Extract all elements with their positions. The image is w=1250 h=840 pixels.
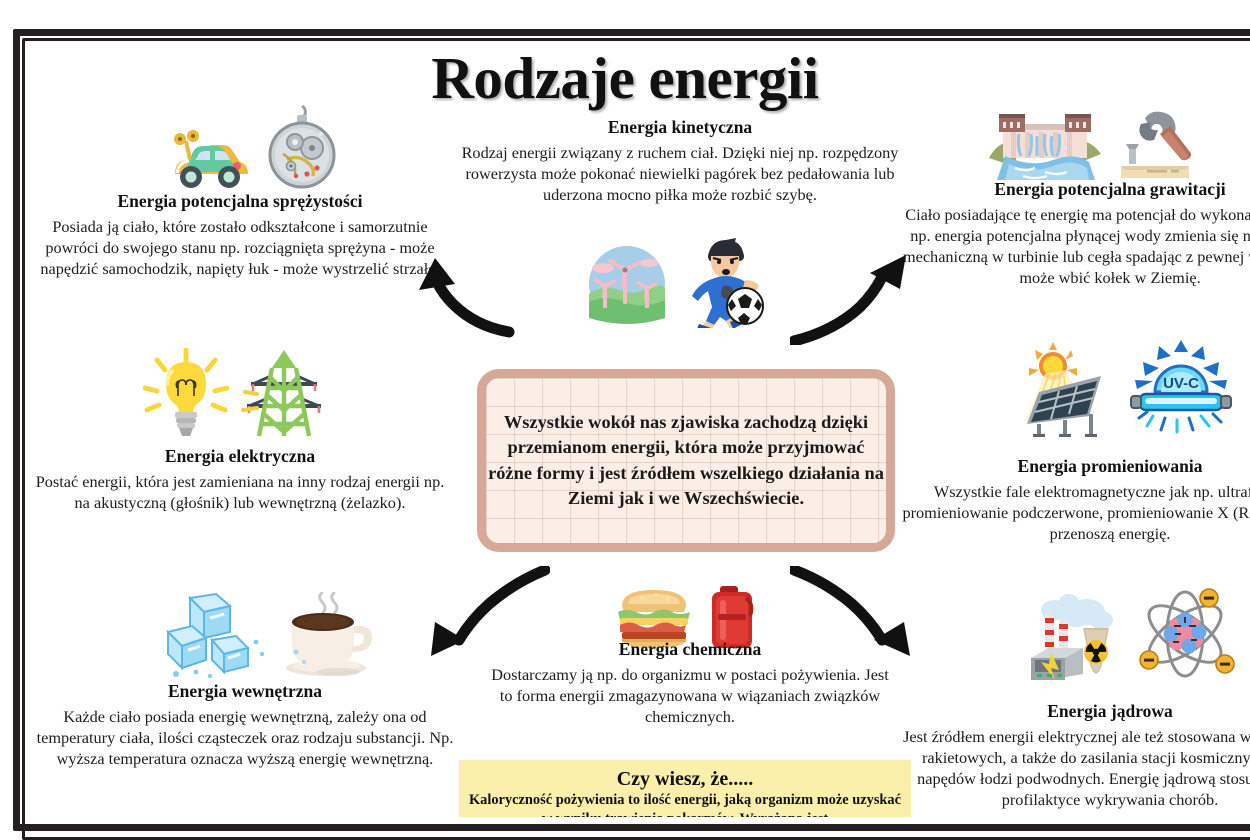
soccer-player-icon xyxy=(685,236,765,328)
hammer-nail-icon xyxy=(1113,110,1193,182)
block-heading: Energia wewnętrzna xyxy=(30,680,460,703)
arrow-to-elastic-potential xyxy=(405,258,515,338)
arrow-to-nuclear xyxy=(790,566,915,658)
uvc-label: UV-C xyxy=(1163,375,1199,392)
block-text: Każde ciało posiada energię wewnętrzną, … xyxy=(30,706,460,770)
arrow-to-internal xyxy=(425,566,550,658)
block-text: Jest źródłem energii elektrycznej ale te… xyxy=(900,726,1250,811)
block-elastic-potential: Energia potencjalna sprężystości Posiada… xyxy=(30,190,450,279)
block-heading: Energia promieniowania xyxy=(900,455,1250,478)
solar-panel-icon xyxy=(1009,340,1113,438)
arrow-to-gravitational-potential xyxy=(790,255,910,345)
light-bulb-icon xyxy=(143,348,229,440)
did-you-know-text: Kaloryczność pożywienia to ilość energii… xyxy=(459,791,911,817)
block-text: Postać energii, która jest zamieniana na… xyxy=(30,471,450,513)
toy-car-icon xyxy=(161,128,253,190)
atom-icon xyxy=(1133,586,1237,680)
icons-internal xyxy=(152,582,387,678)
pocket-watch-icon xyxy=(265,104,339,190)
block-kinetic: Energia kinetyczna Rodzaj energii związa… xyxy=(460,116,900,205)
did-you-know-heading: Czy wiesz, że..... xyxy=(459,768,911,791)
block-text: Dostarczamy ją np. do organizmu w postac… xyxy=(490,664,890,728)
nuclear-plant-icon xyxy=(1025,586,1121,680)
uvc-lamp-icon: UV-C xyxy=(1125,340,1237,438)
block-internal: Energia wewnętrzna Każde ciało posiada e… xyxy=(30,680,460,769)
icons-elastic-potential xyxy=(140,98,360,190)
did-you-know-box: Czy wiesz, że..... Kaloryczność pożywien… xyxy=(459,760,911,817)
block-heading: Energia jądrowa xyxy=(900,700,1250,723)
hydro-dam-icon xyxy=(989,110,1101,182)
block-radiation: Energia promieniowania Wszystkie fale el… xyxy=(900,455,1250,544)
block-text: Ciało posiadające tę energię ma potencja… xyxy=(900,204,1250,289)
block-heading: Energia elektryczna xyxy=(30,445,450,468)
block-text: Rodzaj energii związany z ruchem ciał. D… xyxy=(460,142,900,206)
icons-radiation: UV-C xyxy=(995,320,1250,438)
block-heading: Energia potencjalna sprężystości xyxy=(30,190,450,213)
central-message-box: Wszystkie wokół nas zjawiska zachodzą dz… xyxy=(477,369,895,552)
ice-cubes-icon xyxy=(166,592,270,678)
power-pylon-icon xyxy=(241,348,327,440)
block-electrical: Energia elektryczna Postać energii, któr… xyxy=(30,445,450,513)
block-heading: Energia potencjalna grawitacji xyxy=(900,178,1250,201)
icons-nuclear xyxy=(1008,580,1250,680)
block-heading: Energia kinetyczna xyxy=(460,116,900,139)
poster-canvas: Rodzaje energii xyxy=(0,0,1250,817)
block-nuclear: Energia jądrowa Jest źródłem energii ele… xyxy=(900,700,1250,810)
hot-coffee-icon xyxy=(282,592,374,678)
icons-kinetic xyxy=(560,228,785,328)
icons-electrical xyxy=(135,322,335,440)
block-text: Posiada ją ciało, które zostało odkształ… xyxy=(30,216,450,280)
block-text: Wszystkie fale elektromagnetyczne jak np… xyxy=(900,481,1250,545)
icons-gravitational-potential xyxy=(966,100,1216,182)
wind-turbines-icon xyxy=(581,242,673,328)
central-message-text: Wszystkie wokół nas zjawiska zachodzą dz… xyxy=(486,410,886,512)
block-gravitational-potential: Energia potencjalna grawitacji Ciało pos… xyxy=(900,178,1250,288)
